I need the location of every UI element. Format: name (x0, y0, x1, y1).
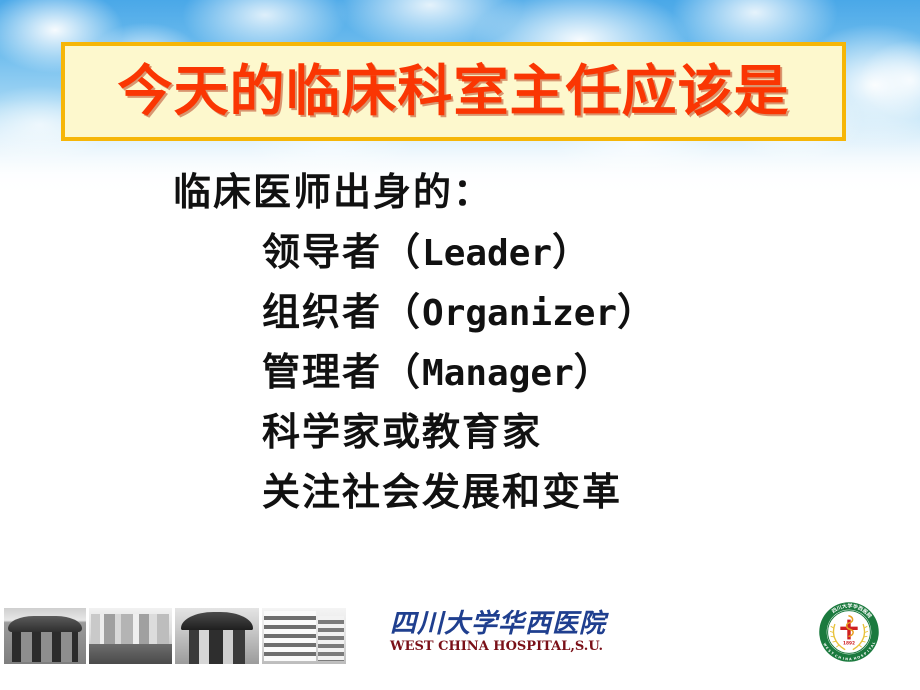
seal-icon: 四 川 大 学 华 西 医 院 W E S T C H I N A H O (818, 601, 880, 663)
body-line-cn: 组织者 (262, 289, 382, 334)
campus-photo-strip (4, 608, 346, 664)
photo-panel-hospital-block (262, 608, 346, 664)
body-line-latin: Manager (422, 353, 574, 394)
photo-panel-temple-hall (175, 608, 259, 664)
body-line-latin: Leader (422, 233, 552, 274)
body-line: 临床医师出身的： (0, 162, 920, 222)
body-line-cn: 关注社会发展和变革 (262, 469, 622, 514)
body-line: 管理者（Manager） (0, 342, 920, 402)
body-line: 组织者（Organizer） (0, 282, 920, 342)
body-line-open-paren: （ (382, 229, 422, 274)
body-line-close-paren: ） (574, 349, 614, 394)
body-line-open-paren: （ (382, 289, 422, 334)
body-line: 科学家或教育家 (0, 402, 920, 462)
body-line: 关注社会发展和变革 (0, 462, 920, 522)
body-line-cn: 科学家或教育家 (262, 409, 542, 454)
photo-panel-skyline (89, 608, 172, 664)
photo-panel-gateway (4, 608, 86, 664)
seal-year: 1892 (843, 640, 855, 646)
body-line-open-paren: （ (382, 349, 422, 394)
hospital-seal-logo: 四 川 大 学 华 西 医 院 W E S T C H I N A H O (818, 601, 880, 663)
slide-title-box: 今天的临床科室主任应该是 (61, 42, 846, 141)
page-title: 今天的临床科室主任应该是 (117, 64, 789, 119)
slide-body-text: 临床医师出身的： 领导者（Leader） 组织者（Organizer） 管理者（… (0, 162, 920, 522)
body-line-latin: Organizer (422, 293, 617, 334)
body-line: 领导者（Leader） (0, 222, 920, 282)
hospital-name-cn: 四川大学华西医院 (390, 609, 590, 639)
body-line-cn: 临床医师出身的： (173, 169, 493, 214)
body-line-cn: 管理者 (262, 349, 382, 394)
cloud-shape (840, 25, 920, 135)
hospital-name-en: WEST CHINA HOSPITAL,S.U. (390, 639, 590, 655)
body-line-close-paren: ） (617, 289, 657, 334)
hospital-wordmark: 四川大学华西医院 WEST CHINA HOSPITAL,S.U. (390, 609, 590, 655)
svg-text:N: N (845, 657, 848, 661)
body-line-cn: 领导者 (262, 229, 382, 274)
body-line-close-paren: ） (552, 229, 592, 274)
slide-canvas: 今天的临床科室主任应该是 临床医师出身的： 领导者（Leader） 组织者（Or… (0, 0, 920, 690)
